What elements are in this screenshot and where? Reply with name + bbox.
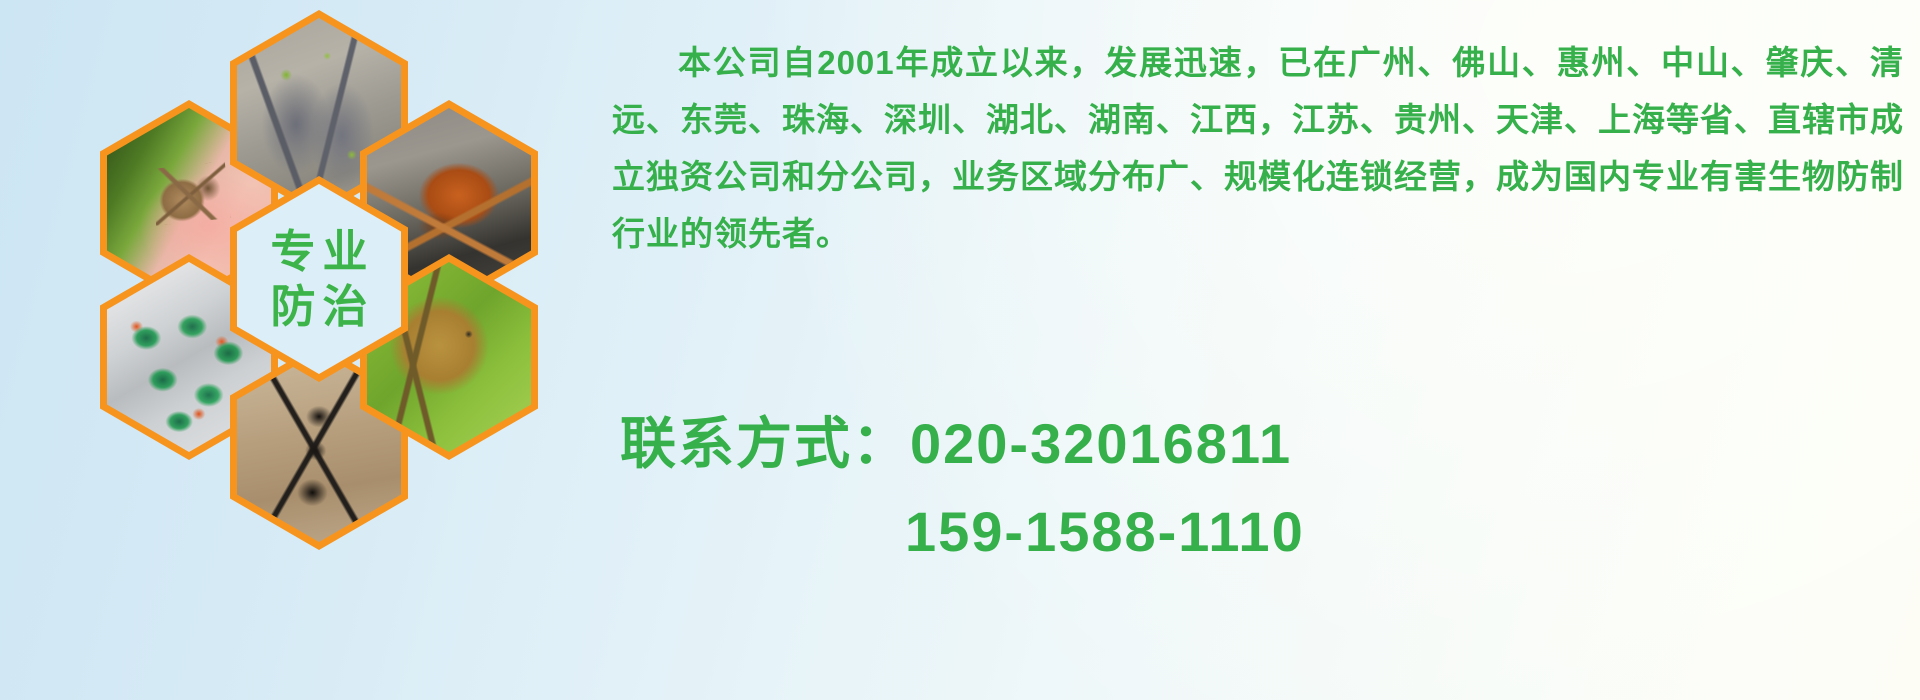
company-description: 本公司自2001年成立以来，发展迅速，已在广州、佛山、惠州、中山、肇庆、清远、东… bbox=[612, 34, 1904, 262]
center-label-line-1: 专业 bbox=[263, 229, 374, 274]
honeycomb-cluster: 专业 防治 bbox=[78, 0, 598, 568]
company-description-text: 本公司自2001年成立以来，发展迅速，已在广州、佛山、惠州、中山、肇庆、清远、东… bbox=[612, 34, 1904, 262]
contact-block: 联系方式：020-32016811 159-1588-1110 bbox=[620, 400, 1920, 576]
honeycomb-center-label: 专业 防治 bbox=[237, 184, 401, 374]
hex-inner: 专业 防治 bbox=[237, 184, 401, 374]
contact-line-secondary[interactable]: 159-1588-1110 bbox=[620, 488, 1920, 576]
promo-banner: 专业 防治 本公司自2001年成立以来，发展迅速，已在广州、佛山、惠州、中山、肇… bbox=[0, 0, 1920, 700]
contact-line-primary[interactable]: 联系方式：020-32016811 bbox=[620, 400, 1920, 488]
center-label-line-2: 防治 bbox=[263, 284, 374, 329]
